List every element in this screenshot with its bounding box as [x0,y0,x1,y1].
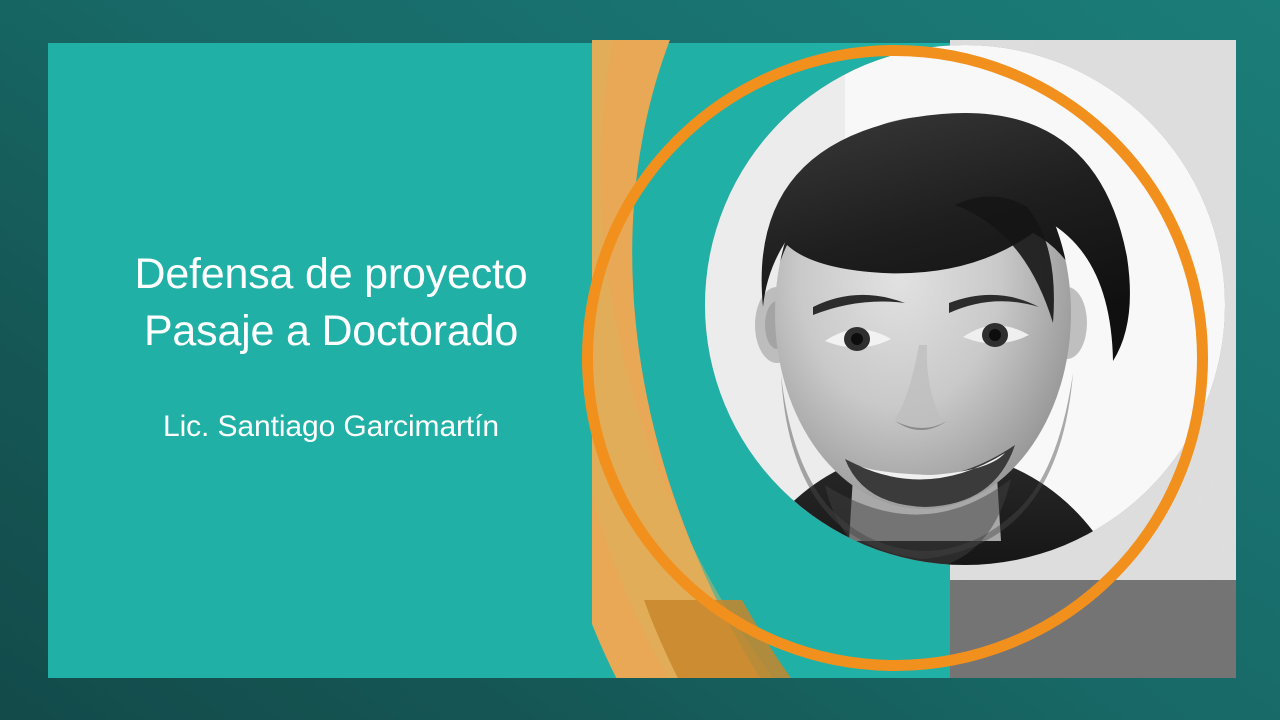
slide-canvas: Defensa de proyecto Pasaje a Doctorado L… [0,0,1280,720]
portrait-photo [592,40,1236,678]
page-title: Defensa de proyecto Pasaje a Doctorado [96,246,566,360]
photo-circle-portrait [705,45,1225,565]
presenter-name: Lic. Santiago Garcimartín [96,410,566,444]
portrait-face-svg [705,45,1225,565]
slide-text-block: Defensa de proyecto Pasaje a Doctorado L… [96,246,566,444]
